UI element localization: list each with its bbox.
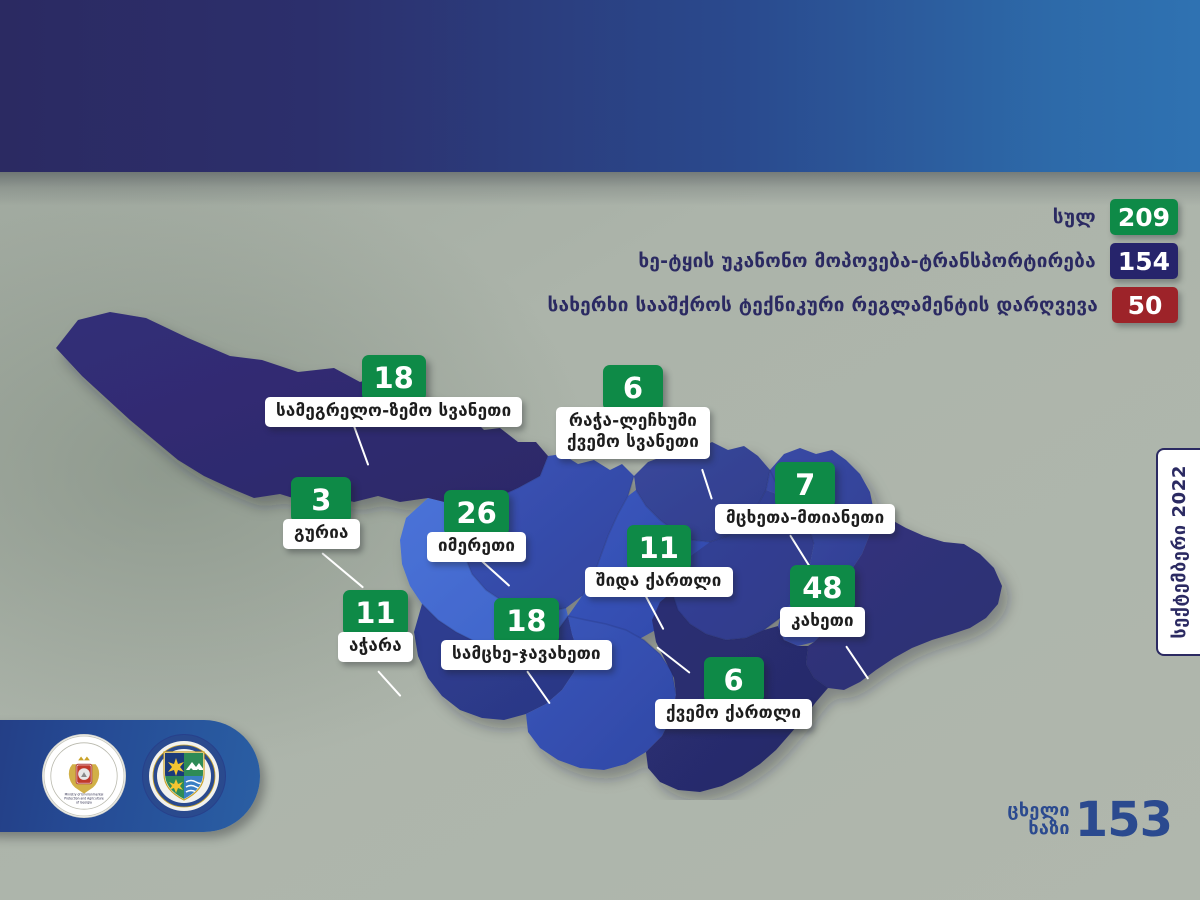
map-marker-kvemo[interactable]: 6 ქვემო ქართლი	[655, 657, 812, 729]
department-emblem-icon	[142, 734, 226, 818]
marker-count-shida: 11	[627, 525, 691, 571]
map-marker-kakheti[interactable]: 48 კახეთი	[780, 565, 865, 637]
legend-value-total: 209	[1110, 199, 1178, 235]
marker-count-samtskhe: 18	[494, 598, 558, 644]
legend-row-total: სულ 209	[1053, 199, 1178, 235]
marker-label-shida: შიდა ქართლი	[585, 567, 733, 597]
marker-label-guria: გურია	[283, 519, 360, 549]
hotline-word-line2: ხაზი	[1007, 820, 1069, 838]
map-marker-samtskhe[interactable]: 18 სამცხე-ჯავახეთი	[441, 598, 612, 670]
legend-label-total: სულ	[1053, 206, 1096, 228]
marker-count-racha: 6	[603, 365, 663, 411]
map-marker-shida[interactable]: 11 შიდა ქართლი	[585, 525, 733, 597]
marker-label-samtskhe: სამცხე-ჯავახეთი	[441, 640, 612, 670]
legend-row-sawmill: სახერხი სააშქროს ტექნიკური რეგლამენტის დ…	[547, 287, 1178, 323]
marker-label-racha: რაჭა-ლეჩხუმი ქვემო სვანეთი	[556, 407, 710, 459]
marker-count-samegrelo: 18	[362, 355, 426, 401]
map-marker-samegrelo[interactable]: 18 სამეგრელო-ზემო სვანეთი	[265, 355, 522, 427]
marker-label-imereti: იმერეთი	[427, 532, 526, 562]
legend: სულ 209 ხე-ტყის უკანონო მოპოვება-ტრანსპო…	[547, 199, 1178, 323]
map-marker-adjara[interactable]: 11 აჭარა	[338, 590, 413, 662]
map-marker-racha[interactable]: 6 რაჭა-ლეჩხუმი ქვემო სვანეთი	[556, 365, 710, 459]
hotline-words: ცხელი ხაზი	[1007, 802, 1069, 839]
header-banner	[0, 0, 1200, 172]
map-marker-guria[interactable]: 3 გურია	[283, 477, 360, 549]
ministry-emblem-icon: Ministry of Environmental Protection and…	[42, 734, 126, 818]
map-marker-mtskheta[interactable]: 7 მცხეთა-მთიანეთი	[715, 462, 895, 534]
legend-row-transport: ხე-ტყის უკანონო მოპოვება-ტრანსპორტირება …	[638, 243, 1178, 279]
legend-label-transport: ხე-ტყის უკანონო მოპოვება-ტრანსპორტირება	[638, 250, 1095, 272]
date-tab: სექტემბერი 2022	[1156, 448, 1200, 656]
map-marker-imereti[interactable]: 26 იმერეთი	[427, 490, 526, 562]
marker-label-samegrelo: სამეგრელო-ზემო სვანეთი	[265, 397, 522, 427]
marker-label-kvemo: ქვემო ქართლი	[655, 699, 812, 729]
marker-label-kakheti: კახეთი	[780, 607, 865, 637]
svg-text:of Georgia: of Georgia	[76, 800, 92, 804]
marker-count-imereti: 26	[444, 490, 508, 536]
marker-count-guria: 3	[291, 477, 351, 523]
marker-count-kvemo: 6	[704, 657, 764, 703]
legend-value-sawmill: 50	[1112, 287, 1178, 323]
hotline-number: 153	[1075, 798, 1172, 842]
marker-count-kakheti: 48	[790, 565, 854, 611]
date-tab-label: სექტემბერი 2022	[1169, 465, 1190, 639]
infographic-canvas: უკანონო ტყითსარგებლობის სტატისტიკა სულ 2…	[0, 0, 1200, 900]
department-emblem-svg	[142, 734, 226, 818]
logo-bar: Ministry of Environmental Protection and…	[0, 720, 260, 832]
legend-value-transport: 154	[1110, 243, 1178, 279]
marker-count-mtskheta: 7	[775, 462, 835, 508]
legend-label-sawmill: სახერხი სააშქროს ტექნიკური რეგლამენტის დ…	[547, 294, 1098, 316]
ministry-emblem-svg: Ministry of Environmental Protection and…	[43, 734, 125, 818]
hotline: ცხელი ხაზი 153	[1007, 798, 1172, 842]
marker-count-adjara: 11	[343, 590, 407, 636]
marker-label-mtskheta: მცხეთა-მთიანეთი	[715, 504, 895, 534]
marker-label-adjara: აჭარა	[338, 632, 413, 662]
